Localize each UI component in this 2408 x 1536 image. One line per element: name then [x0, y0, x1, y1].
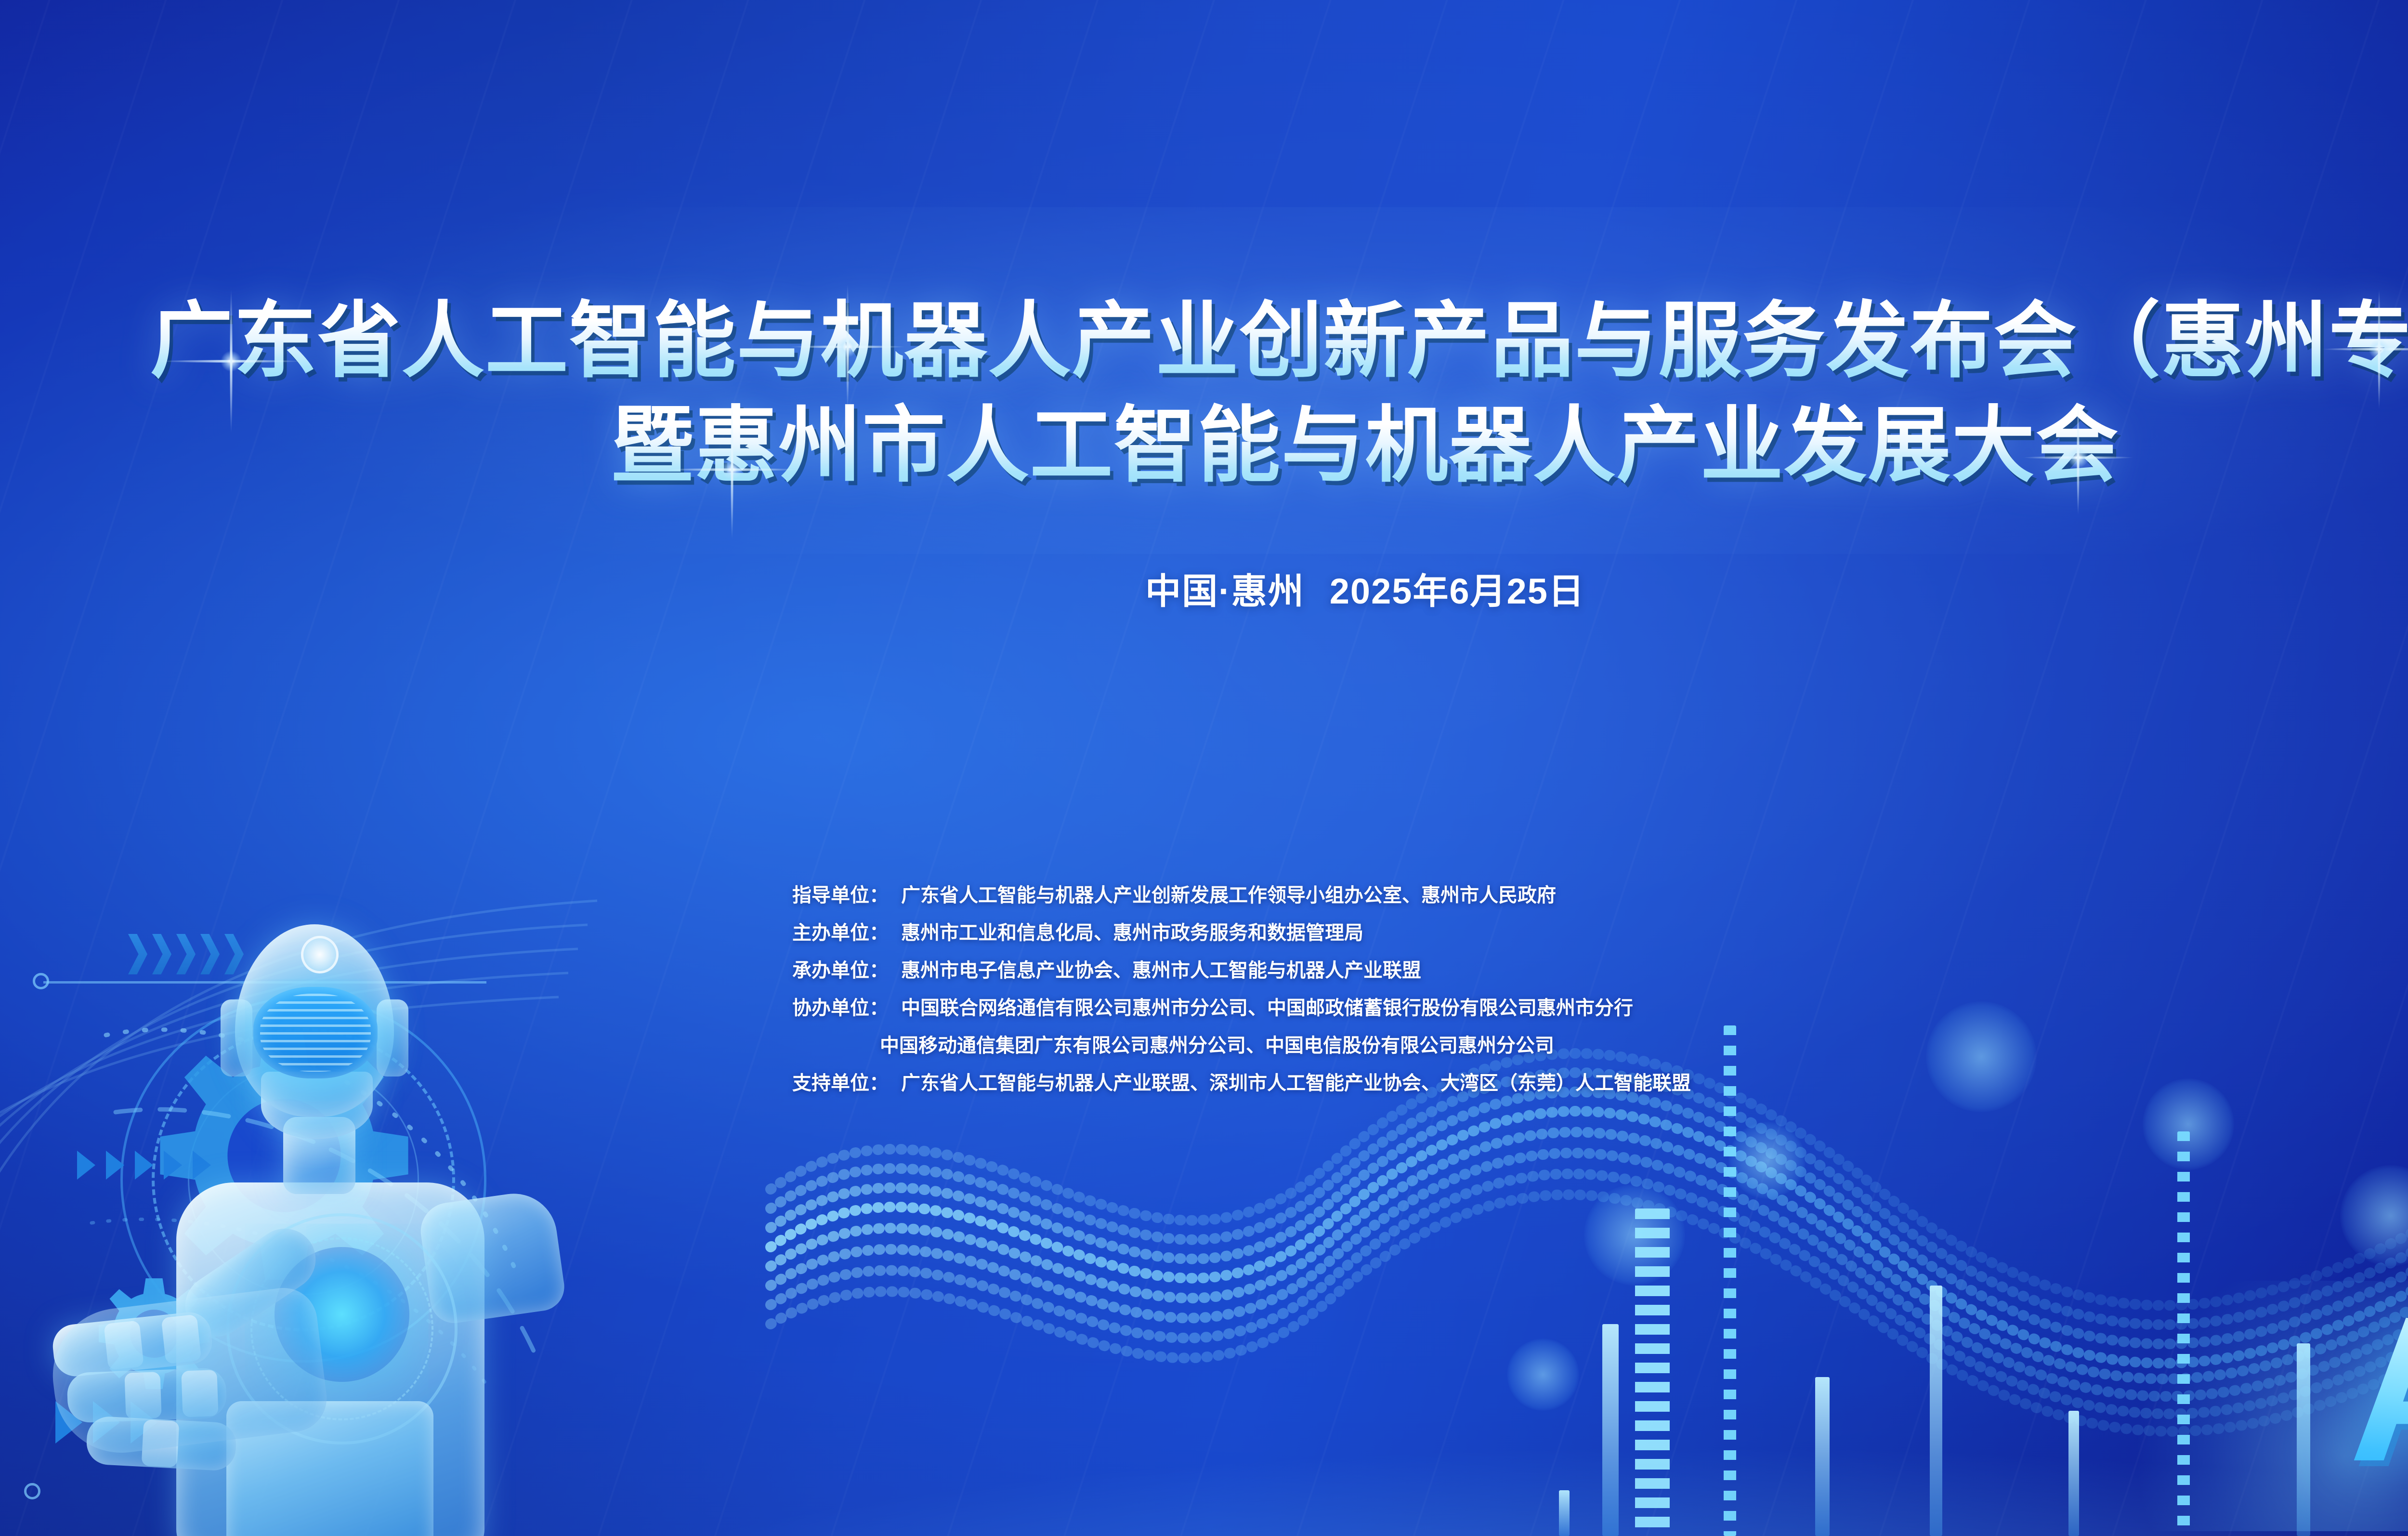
- organizer-value: 中国联合网络通信有限公司惠州市分公司、中国邮政储蓄银行股份有限公司惠州市分行: [901, 998, 1633, 1019]
- hud-node-dot-lower: [24, 1483, 40, 1499]
- bokeh-dot: [2340, 1165, 2408, 1266]
- bokeh-dot: [1507, 1339, 1579, 1411]
- page-title-line-2: 暨惠州市人工智能与机器人产业发展大会: [0, 394, 2408, 498]
- organizer-label: 支持单位：: [792, 1064, 889, 1102]
- robot-ear-left: [221, 999, 252, 1077]
- equalizer-bar: [1815, 1377, 1830, 1536]
- organizer-value: 广东省人工智能与机器人产业联盟、深圳市人工智能产业协会、大湾区（东莞）人工智能联…: [901, 1073, 1691, 1094]
- event-location-date: 中国·惠州2025年6月25日: [0, 563, 2408, 614]
- organizer-row: 承办单位：惠州市电子信息产业协会、惠州市人工智能与机器人产业联盟: [792, 952, 1691, 989]
- equalizer-bar: [1602, 1324, 1619, 1536]
- ai-wordmark: AI: [2349, 1286, 2408, 1493]
- equalizer-bar: [1559, 1490, 1570, 1536]
- organizer-value: 中国移动通信集团广东有限公司惠州分公司、中国电信股份有限公司惠州分公司: [880, 1035, 1554, 1056]
- organizer-block: 指导单位：广东省人工智能与机器人产业创新发展工作领导小组办公室、惠州市人民政府主…: [792, 877, 1691, 1102]
- organizer-value: 惠州市工业和信息化局、惠州市政务服务和数据管理局: [901, 922, 1363, 944]
- robot-figure: [82, 915, 554, 1536]
- bokeh-dot: [1926, 1001, 2037, 1112]
- event-location: 中国·惠州: [1145, 571, 1305, 611]
- hud-node-dot: [33, 973, 49, 989]
- equalizer-bar-dotted: [2177, 1131, 2190, 1536]
- equalizer-bar-dotted: [1724, 1025, 1736, 1536]
- bokeh-dot: [1728, 1122, 1806, 1199]
- robot-ear-right: [377, 999, 408, 1077]
- organizer-label: 指导单位：: [792, 877, 889, 914]
- equalizer-bar: [2068, 1411, 2079, 1536]
- organizer-row: 中国移动通信集团广东有限公司惠州分公司、中国电信股份有限公司惠州分公司: [792, 1027, 1691, 1064]
- organizer-label: 承办单位：: [792, 952, 889, 989]
- organizer-label: 协办单位：: [792, 989, 889, 1027]
- organizer-value: 广东省人工智能与机器人产业创新发展工作领导小组办公室、惠州市人民政府: [901, 885, 1556, 906]
- headline-block: 广东省人工智能与机器人产业创新产品与服务发布会（惠州专场） 暨惠州市人工智能与机…: [0, 289, 2408, 498]
- robot-visor-scanlines: [260, 994, 371, 1072]
- robot-visor-display: [253, 987, 378, 1078]
- organizer-row: 指导单位：广东省人工智能与机器人产业创新发展工作领导小组办公室、惠州市人民政府: [792, 877, 1691, 914]
- organizer-row: 支持单位：广东省人工智能与机器人产业联盟、深圳市人工智能产业协会、大湾区（东莞）…: [792, 1064, 1691, 1102]
- page-title-line-1: 广东省人工智能与机器人产业创新产品与服务发布会（惠州专场）: [0, 289, 2408, 394]
- organizer-row: 主办单位：惠州市工业和信息化局、惠州市政务服务和数据管理局: [792, 914, 1691, 952]
- robot-illustration-zone: [29, 862, 713, 1536]
- organizer-row: 协办单位：中国联合网络通信有限公司惠州市分公司、中国邮政储蓄银行股份有限公司惠州…: [792, 989, 1691, 1027]
- event-date: 2025年6月25日: [1330, 571, 1585, 611]
- equalizer-bar: [2297, 1343, 2310, 1536]
- equalizer-bar: [1930, 1286, 1942, 1536]
- organizer-label: 主办单位：: [792, 914, 889, 952]
- robot-crown-sensor: [301, 936, 339, 973]
- bokeh-dot: [1584, 1184, 1685, 1286]
- equalizer-bar-segmented: [1635, 1208, 1670, 1536]
- organizer-value: 惠州市电子信息产业协会、惠州市人工智能与机器人产业联盟: [901, 960, 1421, 981]
- poster-canvas: AI 广东省人工智能与机器人产业创新产品与服务发布会（惠州专场） 暨惠州市人工智…: [0, 0, 2408, 1536]
